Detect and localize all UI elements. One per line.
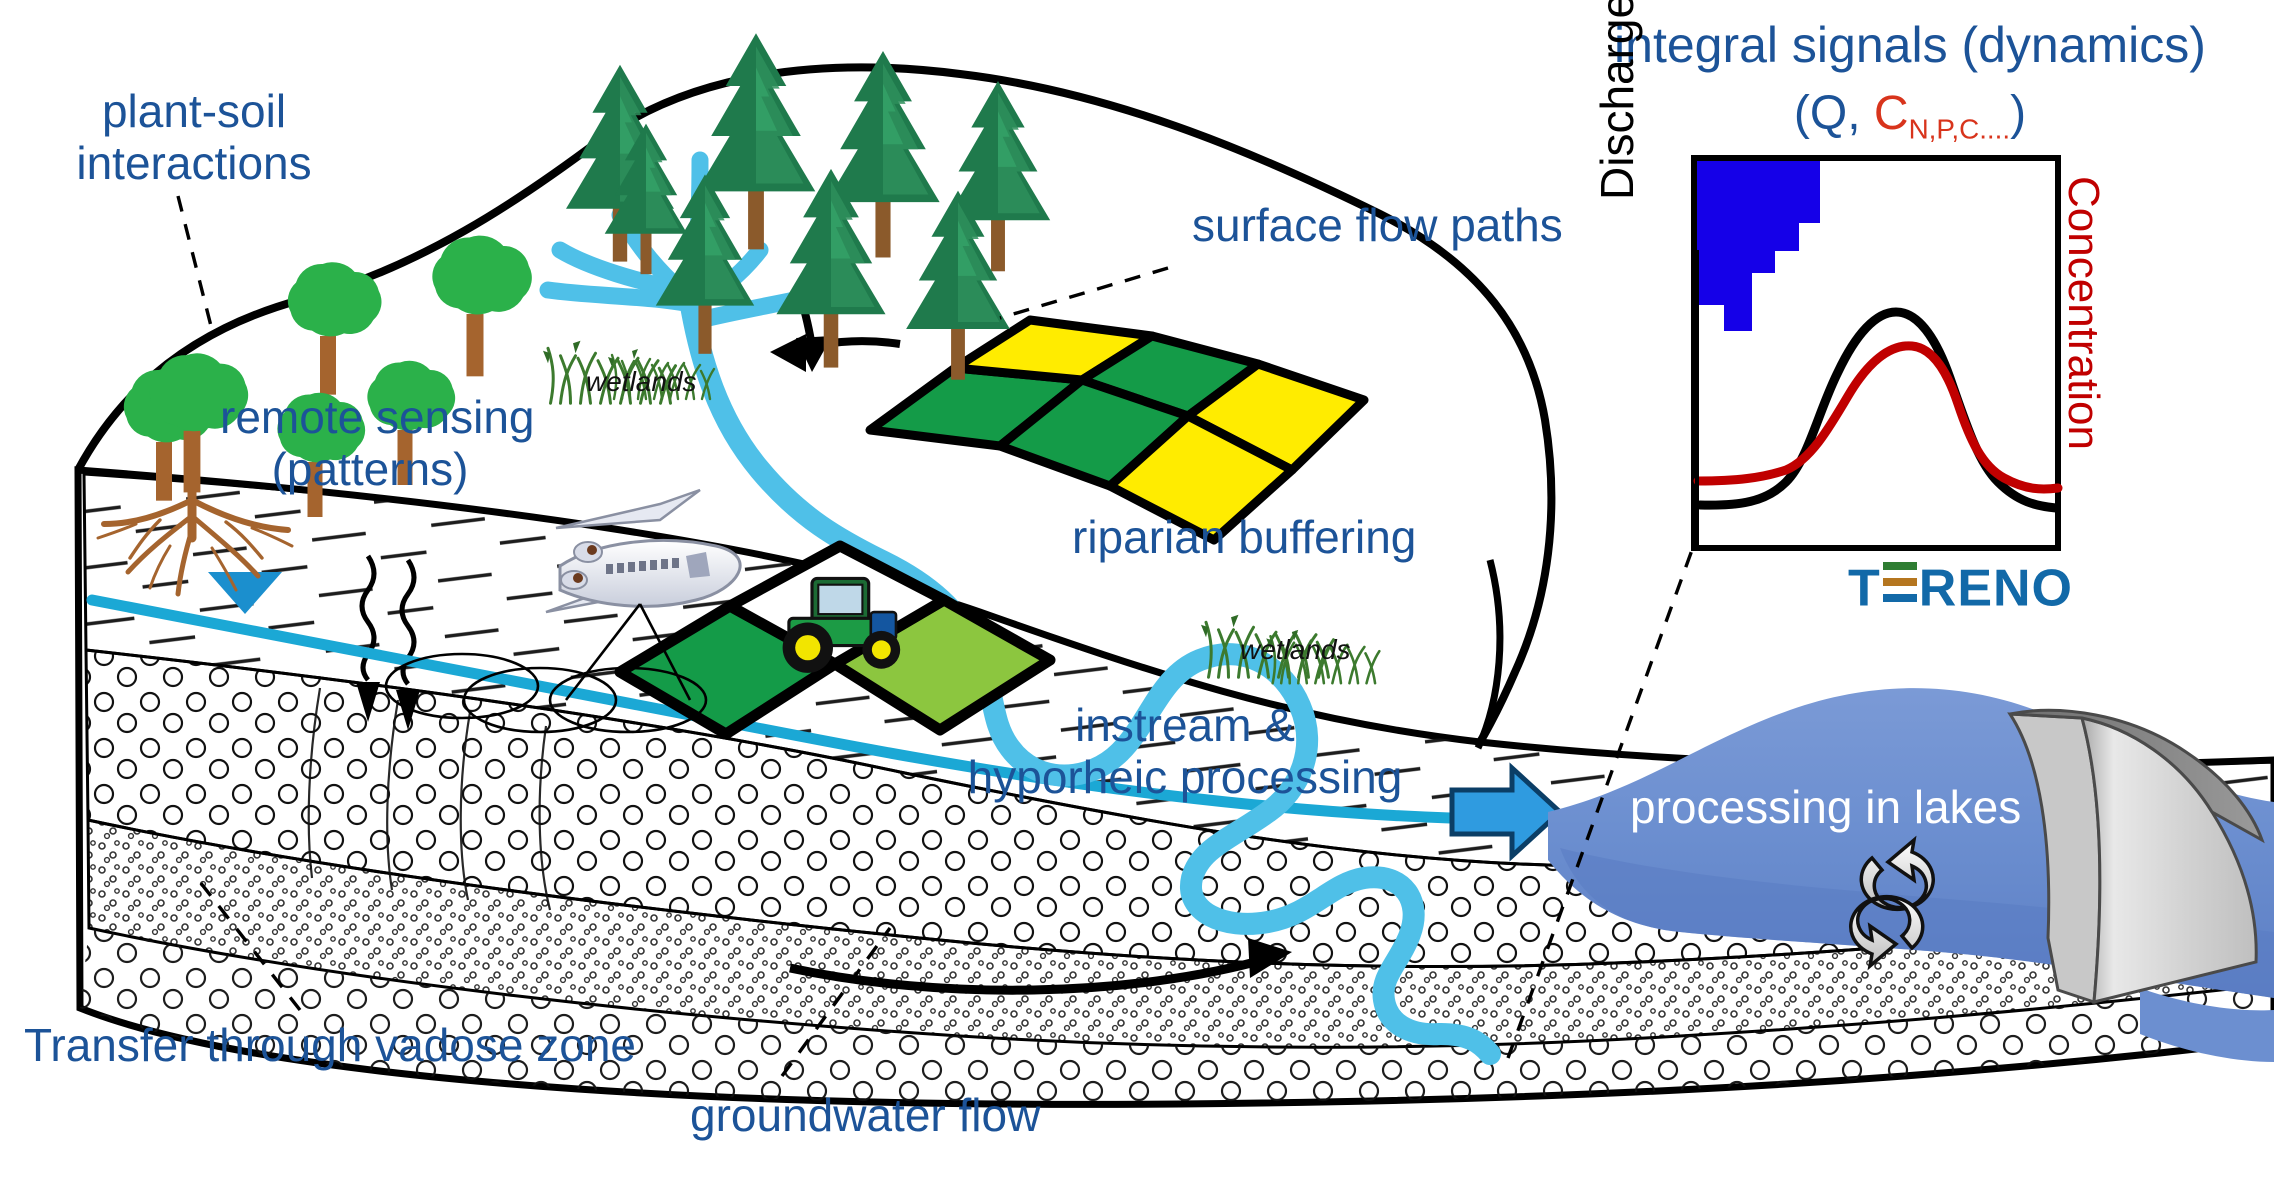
tereno-stripe-brown — [1883, 578, 1917, 586]
diagram-canvas: plant-soil interactions remote sensing (… — [0, 0, 2274, 1179]
tereno-logo: T RENO — [1848, 556, 2073, 618]
chart-yaxis-label-left: Discharge — [1590, 0, 1644, 200]
tereno-stripe-green — [1883, 562, 1917, 570]
tereno-logo-t: T — [1848, 559, 1881, 617]
tereno-logo-rest: RENO — [1919, 559, 2073, 617]
chart-yaxis-label-right: Concentration — [2058, 176, 2108, 450]
tereno-stripe-blue — [1883, 594, 1917, 602]
tereno-logo-e-striped — [1881, 556, 1919, 605]
